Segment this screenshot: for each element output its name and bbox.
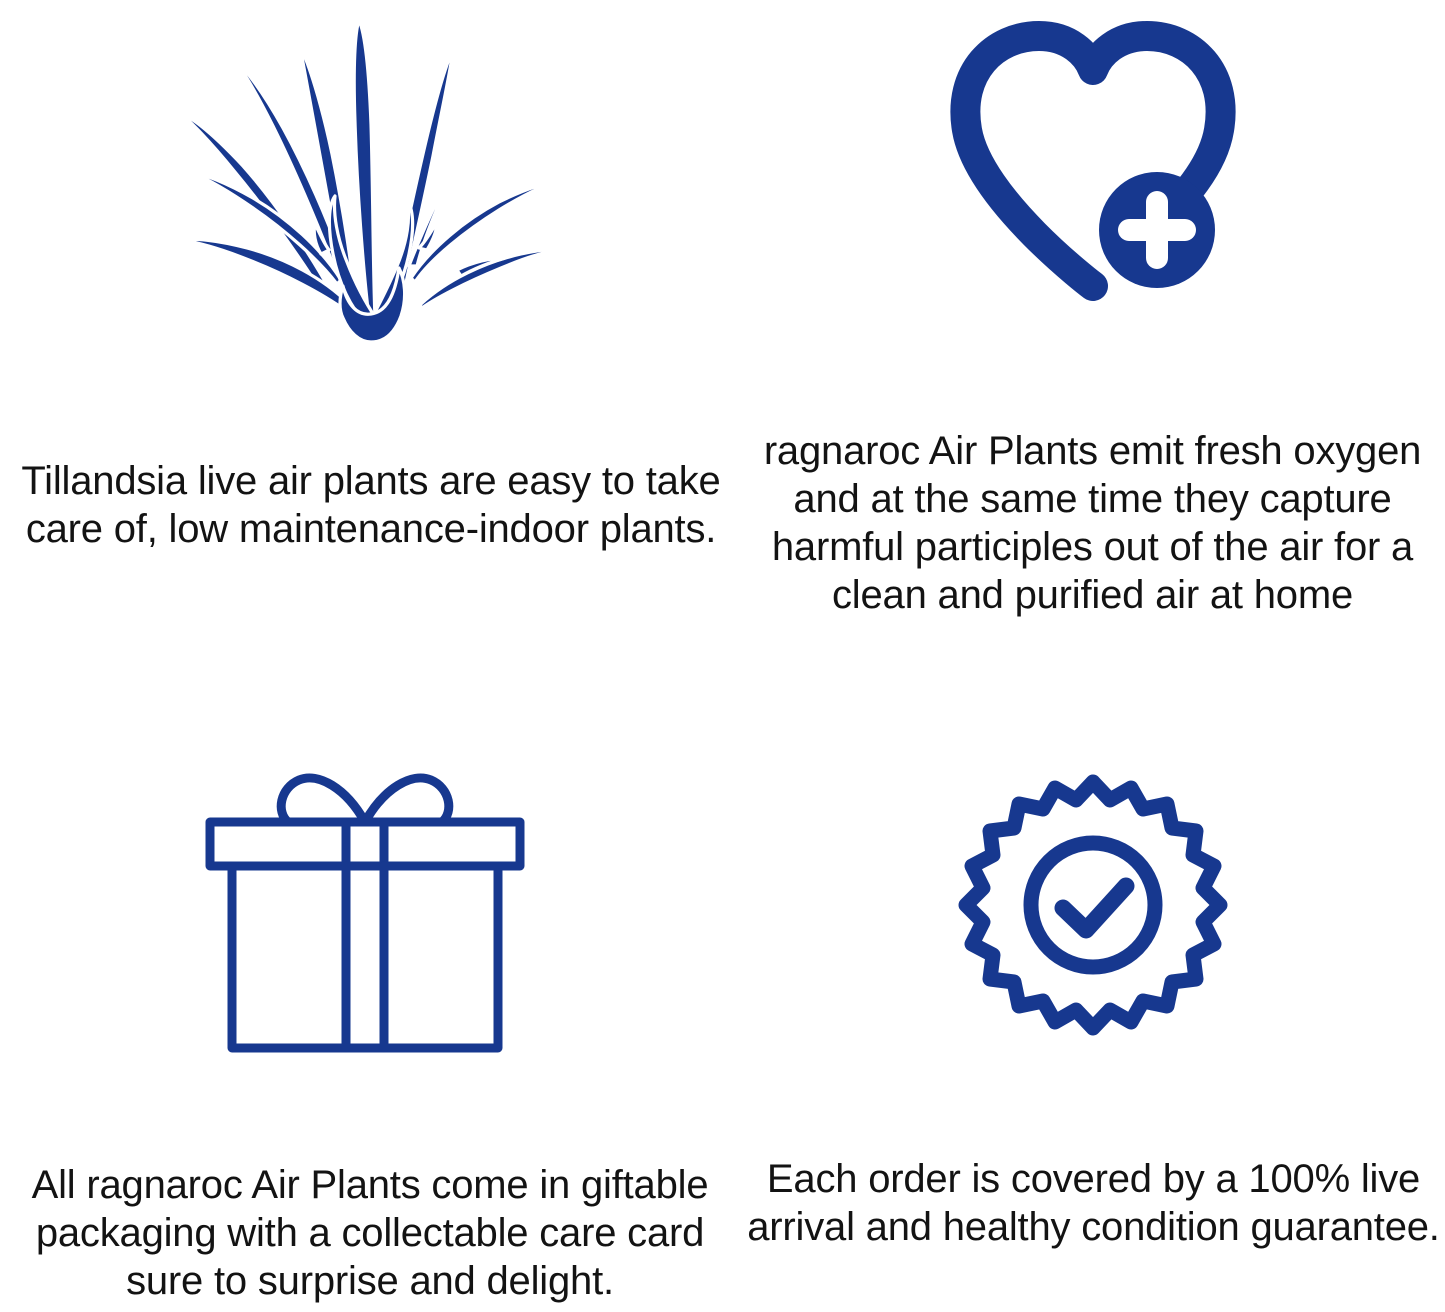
feature-card-air-plant: Tillandsia live air plants are easy to t… <box>0 0 740 660</box>
verified-badge-icon <box>958 770 1228 1055</box>
feature-caption: All ragnaroc Air Plants come in giftable… <box>0 1161 740 1305</box>
feature-grid: Tillandsia live air plants are easy to t… <box>0 0 1445 1312</box>
feature-card-guarantee: Each order is covered by a 100% live arr… <box>740 660 1445 1312</box>
heart-plus-icon <box>943 18 1243 323</box>
air-plant-icon <box>173 18 563 353</box>
verified-badge-icon-wrap <box>740 770 1445 1055</box>
feature-caption: Each order is covered by a 100% live arr… <box>740 1155 1445 1251</box>
air-plant-icon-wrap <box>0 18 740 353</box>
heart-plus-icon-wrap <box>740 18 1445 323</box>
feature-card-gift-packaging: All ragnaroc Air Plants come in giftable… <box>0 660 740 1312</box>
gift-box-icon <box>200 760 530 1065</box>
gift-box-icon-wrap <box>0 760 740 1065</box>
feature-caption: Tillandsia live air plants are easy to t… <box>0 457 740 553</box>
feature-card-air-quality: ragnaroc Air Plants emit fresh oxygen an… <box>740 0 1445 660</box>
feature-caption: ragnaroc Air Plants emit fresh oxygen an… <box>740 427 1445 619</box>
